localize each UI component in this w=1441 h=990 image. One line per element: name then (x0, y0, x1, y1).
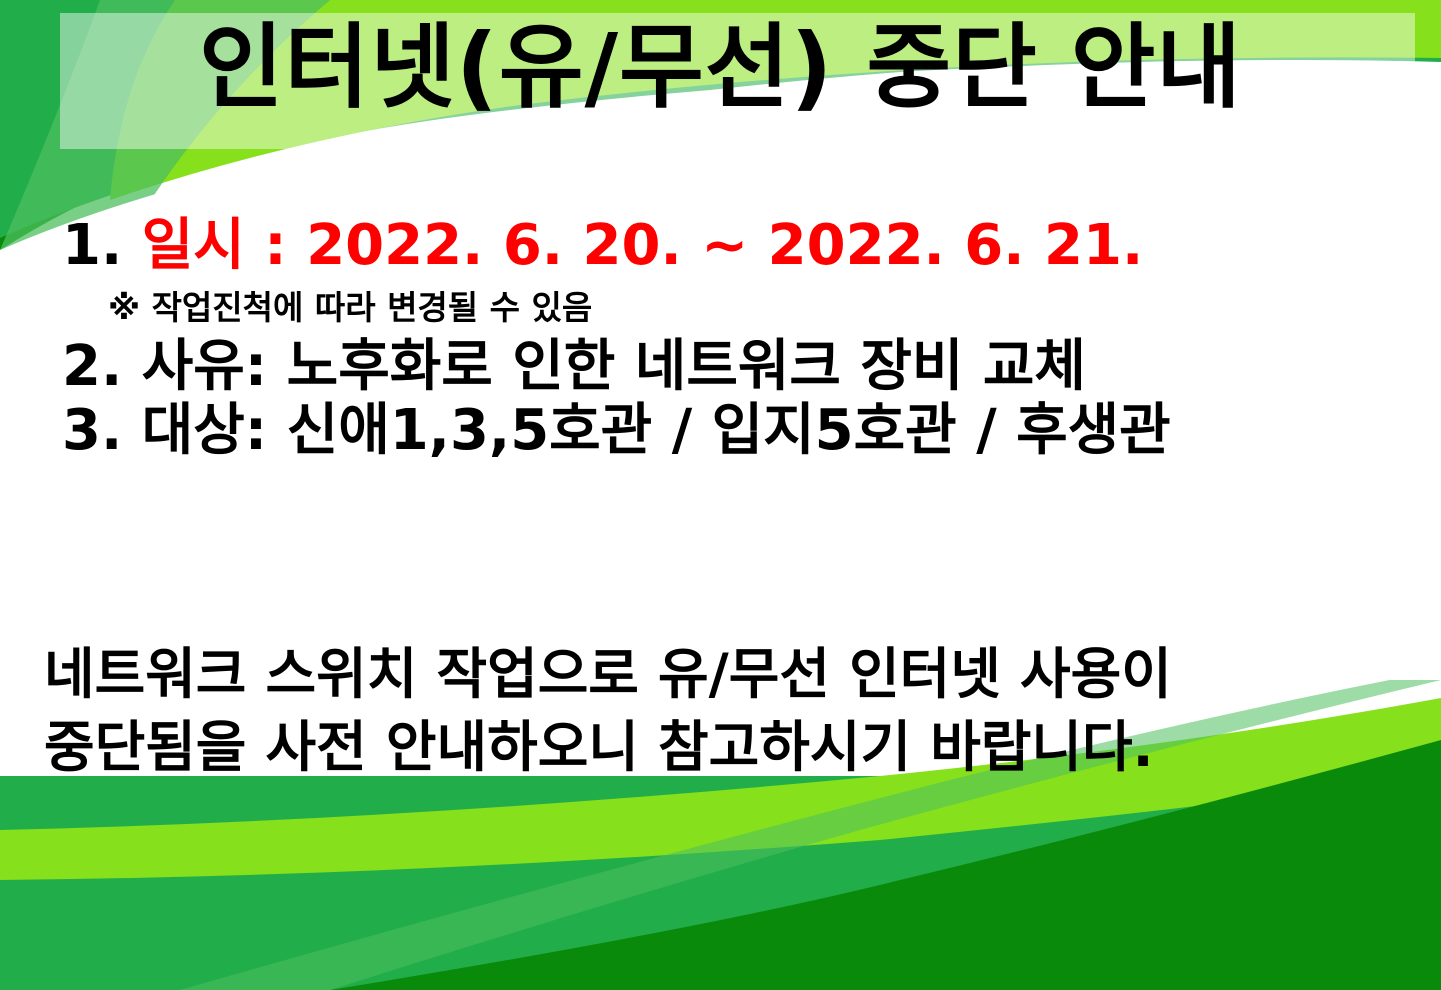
item-number: 1. (62, 213, 122, 278)
item-label: 일시 : (142, 213, 306, 278)
bottom-mid-green-band (0, 776, 1441, 990)
notice-item-target: 3. 대상: 신애1,3,5호관 / 입지5호관 / 후생관 (0, 401, 1441, 461)
notice-poster: 인터넷(유/무선) 중단 안내 1. 일시 : 2022. 6. 20. ~ 2… (0, 0, 1441, 990)
item-number: 2. (62, 334, 122, 399)
item-number: 3. (62, 398, 122, 463)
notice-item-reason: 2. 사유: 노후화로 인한 네트워크 장비 교체 (0, 337, 1441, 397)
closing-line-2: 중단됨을 사전 안내하오니 참고하시기 바랍니다. (44, 711, 1441, 784)
closing-line-1: 네트워크 스위치 작업으로 유/무선 인터넷 사용이 (44, 638, 1441, 711)
notice-note: ※ 작업진척에 따라 변경될 수 있음 (0, 290, 1441, 326)
item-text: 대상: 신애1,3,5호관 / 입지5호관 / 후생관 (142, 398, 1171, 463)
closing-paragraph: 네트워크 스위치 작업으로 유/무선 인터넷 사용이 중단됨을 사전 안내하오니… (0, 638, 1441, 784)
page-title: 인터넷(유/무선) 중단 안내 (0, 16, 1441, 119)
item-value-date-range: 2022. 6. 20. ~ 2022. 6. 21. (306, 213, 1143, 278)
notice-body: 1. 일시 : 2022. 6. 20. ~ 2022. 6. 21. ※ 작업… (0, 216, 1441, 462)
notice-item-datetime: 1. 일시 : 2022. 6. 20. ~ 2022. 6. 21. (0, 216, 1441, 276)
item-text: 사유: 노후화로 인한 네트워크 장비 교체 (142, 334, 1086, 399)
